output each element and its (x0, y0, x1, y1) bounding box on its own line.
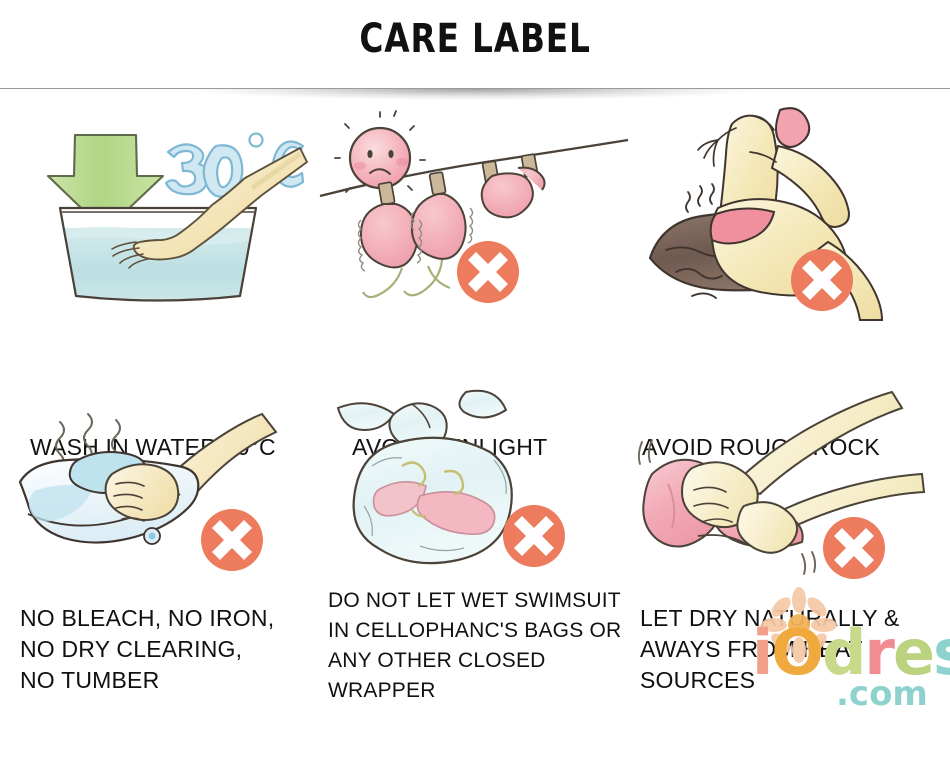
prohibition-badge-icon (791, 249, 853, 311)
panel-caption: LET DRY NATURALLY & AWAYS FROM HEAT SOUR… (640, 603, 899, 696)
prohibition-badge-icon (201, 509, 263, 571)
illustration-sitting-on-rock (632, 100, 950, 322)
panel-caption: DO NOT LET WET SWIMSUIT IN CELLOPHANC'S … (328, 586, 621, 706)
upper-arm (736, 392, 902, 494)
page-header: CARE LABEL (0, 0, 950, 78)
hanging-bikini-top (359, 194, 473, 297)
prohibition-badge-icon (823, 517, 885, 579)
page-title: CARE LABEL (359, 16, 590, 62)
care-panel-avoid-rough-rock: AVOID ROUGH ROCK (632, 100, 950, 386)
care-panel-no-closed-wrapper: DO NOT LET WET SWIMSUIT IN CELLOPHANC'S … (316, 386, 632, 781)
panel-caption: NO BLEACH, NO IRON, NO DRY CLEARING, NO … (20, 603, 274, 696)
care-instruction-grid: WASH IN WATER 30°C (0, 100, 950, 781)
care-panel-let-dry-naturally: LET DRY NATURALLY & AWAYS FROM HEAT SOUR… (632, 386, 950, 781)
care-panel-avoid-sunlight: AVOID SUNLIGHT (316, 100, 632, 386)
sad-sun-icon (335, 111, 425, 192)
ouch-vibration-marks (686, 184, 714, 212)
illustration-basin-with-hand (0, 100, 316, 322)
header-divider (0, 78, 950, 100)
prohibition-badge-icon (457, 241, 519, 303)
prohibition-badge-icon (503, 505, 565, 567)
illustration-sun-and-clothesline (316, 100, 632, 322)
illustration-swimsuit-in-bag (316, 386, 632, 586)
care-panel-no-bleach-no-iron: NO BLEACH, NO IRON, NO DRY CLEARING, NO … (0, 386, 316, 781)
illustration-wringing-swimsuit (632, 386, 950, 596)
illustration-steaming-iron (0, 386, 316, 596)
care-panel-wash-in-water: WASH IN WATER 30°C (0, 100, 316, 386)
divider-shadow (190, 89, 760, 100)
